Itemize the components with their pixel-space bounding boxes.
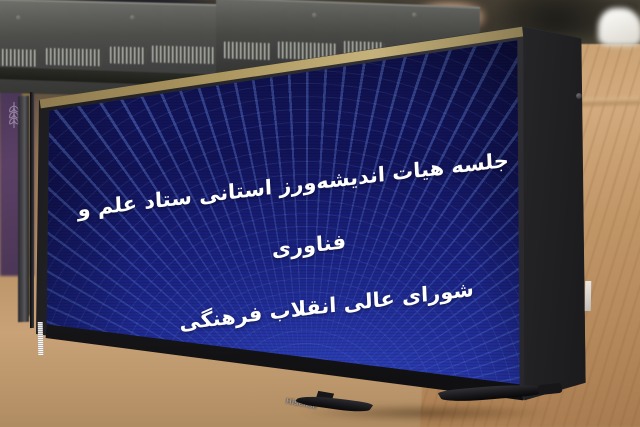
side-label-sticker [585,281,592,311]
screw-head-icon [412,12,417,17]
barcode-sticker [38,322,44,355]
television: جلسه هیات اندیشه‌ورز استانی ستاد علم و ف… [6,18,606,418]
conference-room-scene: جلسه هیات اندیشه‌ورز استانی ستاد علم و ف… [0,0,640,427]
screw-head-icon [576,93,582,99]
tv-left-edge [18,96,29,322]
bezel-seam [30,92,34,328]
